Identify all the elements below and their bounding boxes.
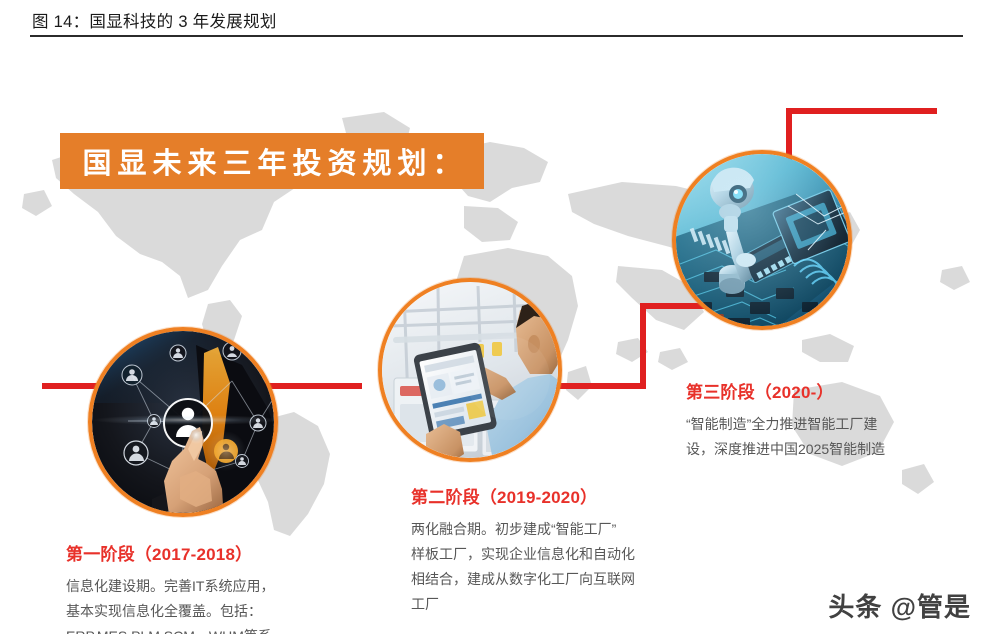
stage-3-body: “智能制造”全力推进智能工厂建 设，深度推进中国2025智能制造 — [686, 412, 976, 462]
stage-2-line: 相结合，建成从数字化工厂向互联网 — [411, 567, 676, 592]
node-2-artwork — [382, 282, 558, 458]
stage-3-title: 第三阶段（2020-） — [686, 378, 976, 403]
stage-3-line: “智能制造”全力推进智能工厂建 — [686, 412, 976, 437]
stage-1-title: 第一阶段（2017-2018） — [66, 540, 336, 565]
infographic-canvas: 国显未来三年投资规划： — [0, 40, 993, 634]
connector-riser-middle — [640, 303, 646, 389]
stage-2-line: 两化融合期。初步建成“智能工厂” — [411, 517, 676, 542]
stage-3-photo-circle — [672, 150, 852, 330]
robot-arm-on-circuit-board-photo — [676, 154, 848, 326]
stage-2-line: 工厂 — [411, 592, 676, 617]
node-3-artwork — [676, 154, 848, 326]
stage-1-line: ERP,MES,PLM,SCM，WHM等系 — [66, 624, 336, 634]
stage-2-title: 第二阶段（2019-2020） — [411, 483, 676, 508]
banner: 国显未来三年投资规划： — [60, 133, 484, 189]
engineer-with-tablet-in-factory-photo — [382, 282, 558, 458]
stage-2-photo-circle — [378, 278, 562, 462]
banner-text: 国显未来三年投资规划： — [76, 140, 467, 182]
stage-2-text: 第二阶段（2019-2020） 两化融合期。初步建成“智能工厂” 样板工厂，实现… — [411, 483, 676, 617]
hand-touching-people-network-photo — [92, 331, 274, 513]
stage-2-body: 两化融合期。初步建成“智能工厂” 样板工厂，实现企业信息化和自动化 相结合，建成… — [411, 517, 676, 617]
watermark: 头条 @管是 — [828, 587, 971, 624]
stage-1-photo-circle — [88, 327, 278, 517]
stage-1-text: 第一阶段（2017-2018） 信息化建设期。完善IT系统应用， 基本实现信息化… — [66, 540, 336, 634]
caption-divider — [30, 35, 963, 37]
node-1-artwork — [92, 331, 274, 513]
stage-2-line: 样板工厂，实现企业信息化和自动化 — [411, 542, 676, 567]
figure-page: 图 14：国显科技的 3 年发展规划 — [0, 0, 993, 634]
stage-3-line: 设，深度推进中国2025智能制造 — [686, 437, 976, 462]
figure-caption: 图 14：国显科技的 3 年发展规划 — [32, 8, 277, 32]
stage-1-line: 基本实现信息化全覆盖。包括： — [66, 599, 336, 624]
stage-1-line: 信息化建设期。完善IT系统应用， — [66, 574, 336, 599]
stage-1-body: 信息化建设期。完善IT系统应用， 基本实现信息化全覆盖。包括： ERP,MES,… — [66, 574, 336, 634]
connector-segment-top — [786, 108, 937, 114]
stage-3-text: 第三阶段（2020-） “智能制造”全力推进智能工厂建 设，深度推进中国2025… — [686, 378, 976, 462]
